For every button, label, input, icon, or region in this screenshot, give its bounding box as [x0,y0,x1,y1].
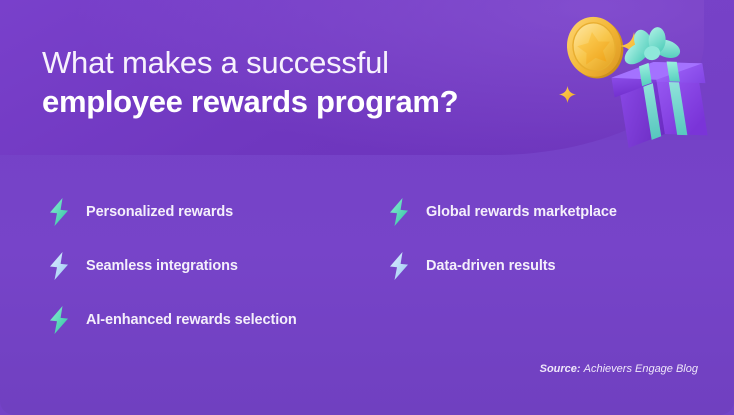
title-line-1: What makes a successful [42,44,562,82]
lightning-bolt-icon [46,251,72,281]
list-item: Seamless integrations [46,239,386,293]
rewards-illustration [534,8,734,148]
list-item: Personalized rewards [46,185,386,239]
source-attribution: Source: Achievers Engage Blog [540,363,698,375]
lightning-bolt-icon [46,305,72,335]
list-item-label: Seamless integrations [86,258,238,274]
title-line-2: employee rewards program? [42,82,562,122]
list-item: AI-enhanced rewards selection [46,293,386,347]
lightning-bolt-icon [386,251,412,281]
source-value: Achievers Engage Blog [584,363,698,375]
list-item-label: AI-enhanced rewards selection [86,312,297,328]
list-item: Global rewards marketplace [386,185,716,239]
list-item-label: Data-driven results [426,258,555,274]
page-title: What makes a successful employee rewards… [42,44,562,122]
list-item-label: Personalized rewards [86,204,233,220]
infographic-card: What makes a successful employee rewards… [0,0,734,415]
feature-list-left-column: Personalized rewards Seamless integratio… [46,185,386,347]
list-item: Data-driven results [386,239,716,293]
gold-coin-star-icon [563,13,627,82]
source-label: Source: [540,363,581,375]
feature-list-right-column: Global rewards marketplace Data-driven r… [386,185,716,293]
list-item-label: Global rewards marketplace [426,204,617,220]
lightning-bolt-icon [386,197,412,227]
sparkle-icon [559,86,576,103]
feature-list: Personalized rewards Seamless integratio… [0,185,734,355]
lightning-bolt-icon [46,197,72,227]
